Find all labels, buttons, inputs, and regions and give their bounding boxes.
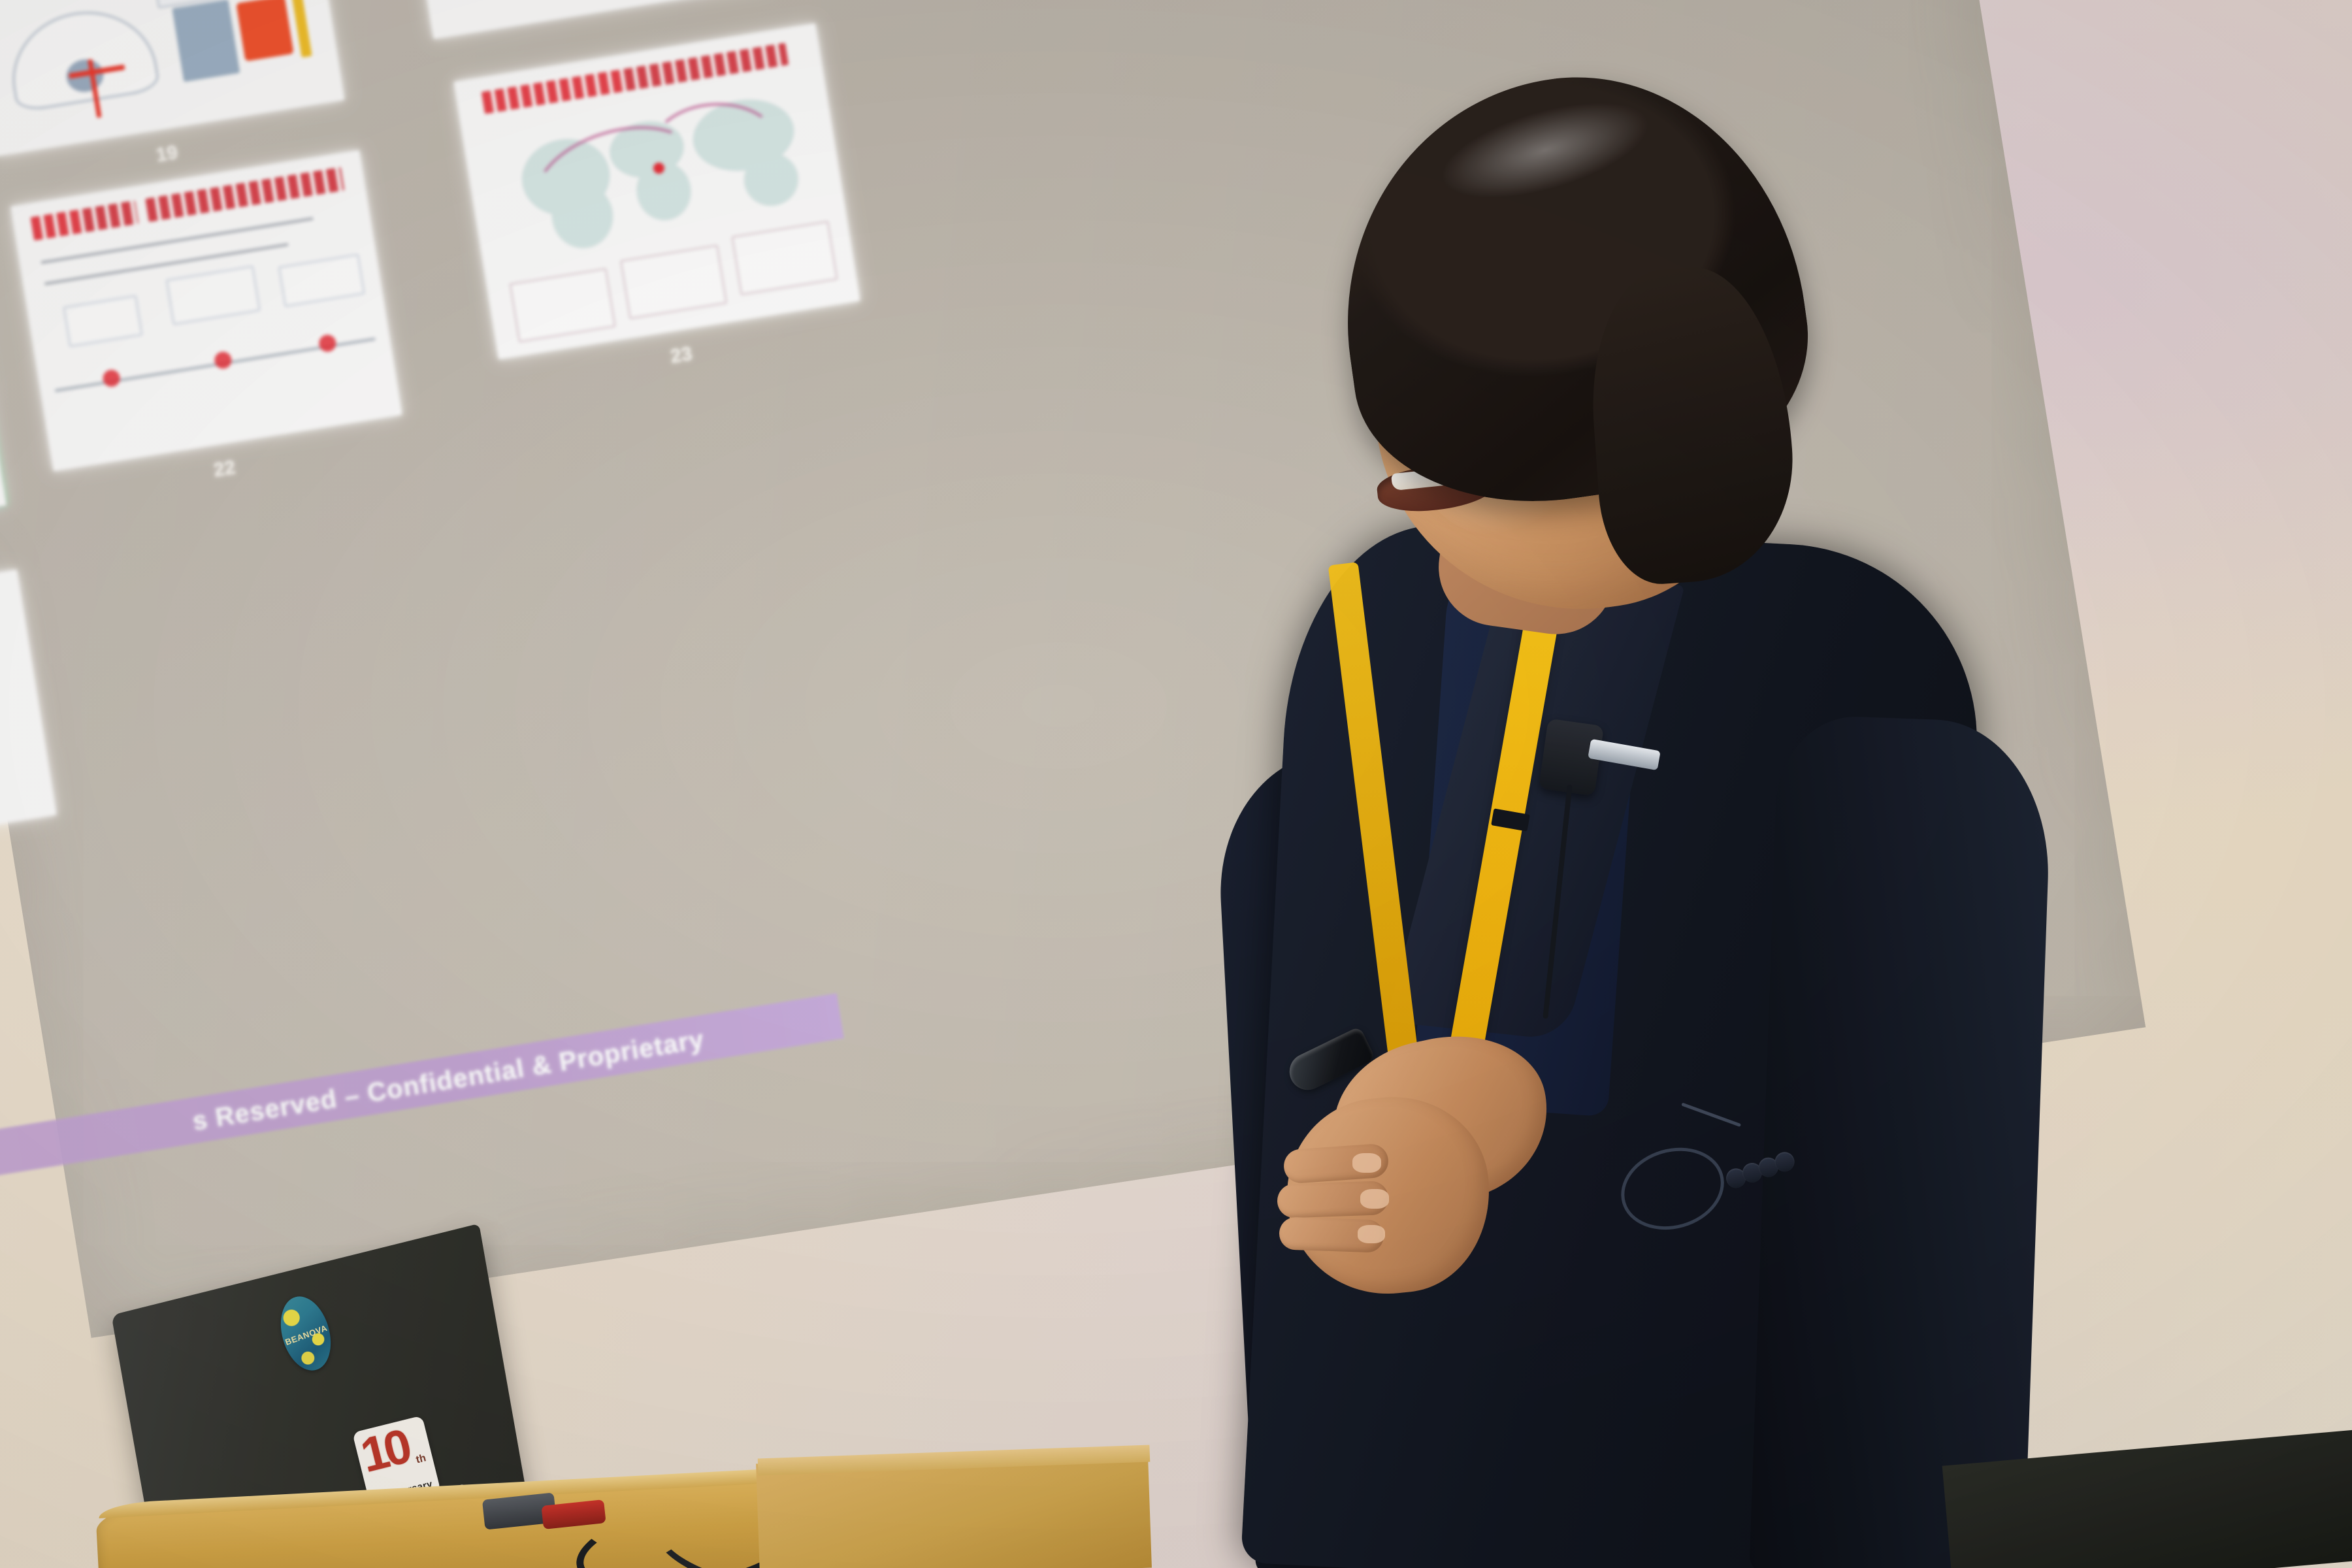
presenter-hands xyxy=(1248,1019,1614,1326)
slide-thumbnail xyxy=(389,0,769,39)
slide-number: 19 xyxy=(154,142,179,167)
slide-thumbnail xyxy=(11,150,402,471)
slide-thumbnail xyxy=(454,24,860,359)
presenter-right-arm xyxy=(1749,714,2053,1568)
presenter: a xyxy=(1228,78,2247,1568)
slide-thumbnail xyxy=(0,570,56,846)
car-outline-icon xyxy=(3,1,161,113)
slide-number: 22 xyxy=(212,457,237,482)
oval-sticker-text: BEANOVA xyxy=(282,1322,330,1348)
presentation-photo-scene: 16 17 xyxy=(0,0,2352,1568)
slide-thumbnail xyxy=(0,0,344,156)
slide-number: 23 xyxy=(669,343,694,368)
slide-thumbnail xyxy=(0,260,7,536)
